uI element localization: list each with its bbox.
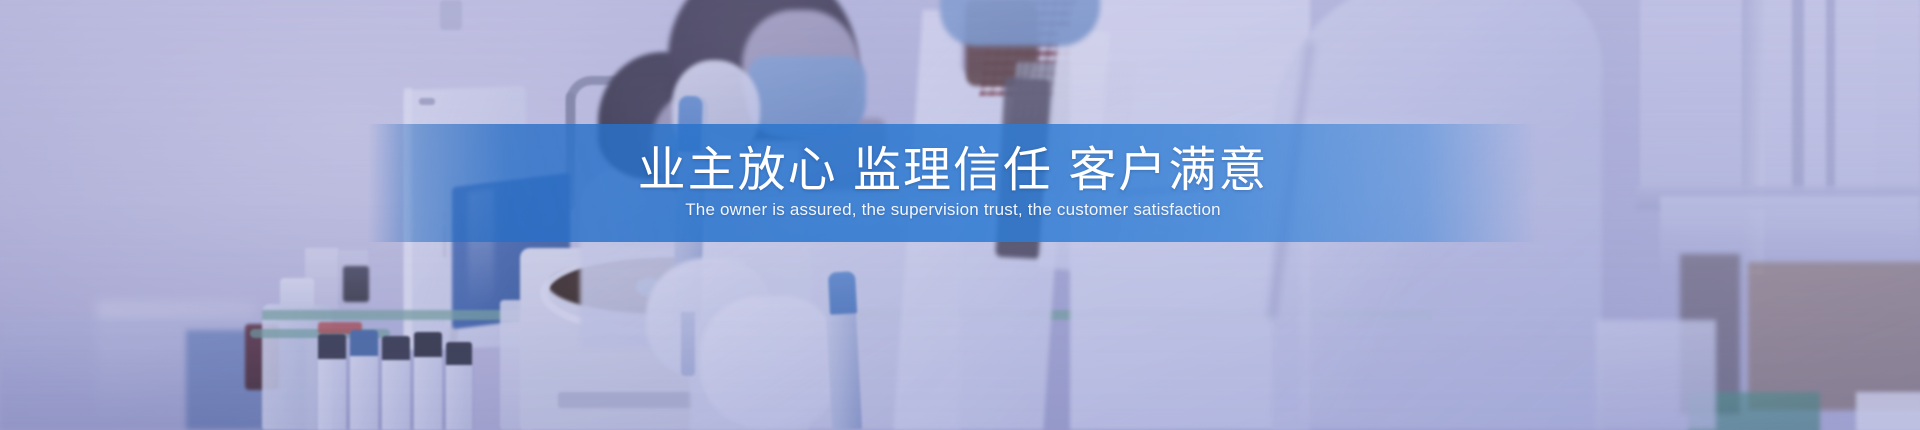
slogan-container: 业主放心 监理信任 客户满意 The owner is assured, the… bbox=[368, 124, 1538, 242]
hero-banner: 业主放心 监理信任 客户满意 The owner is assured, the… bbox=[0, 0, 1920, 430]
slogan-headline: 业主放心 监理信任 客户满意 bbox=[638, 146, 1269, 196]
slogan-subline: The owner is assured, the supervision tr… bbox=[685, 200, 1221, 220]
